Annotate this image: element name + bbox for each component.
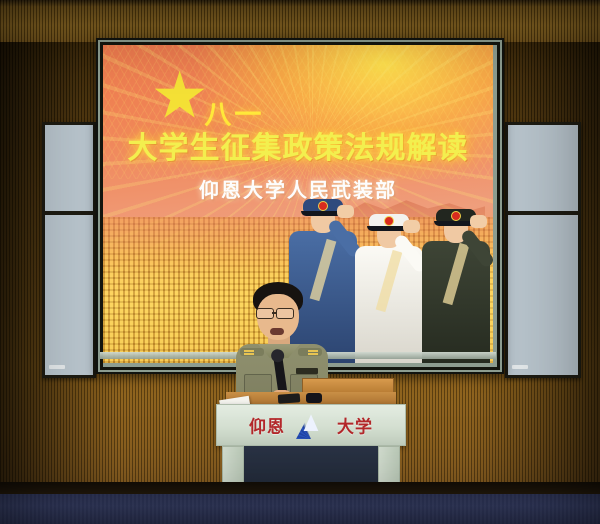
whiteboard-left — [42, 122, 96, 378]
university-fan-logo-icon — [296, 411, 326, 439]
speaker-mouth — [270, 328, 284, 335]
speaker-shoulder-board-right — [298, 348, 322, 356]
speaker-shoulder-board-left — [240, 348, 264, 356]
podium-text-left: 仰恩 — [249, 413, 285, 438]
soldier-cap-badge — [384, 216, 394, 226]
five-pointed-star-icon — [154, 70, 206, 122]
soldier-army — [413, 195, 493, 363]
podium-device — [306, 393, 322, 403]
podium-front-panel: 仰恩 大学 — [216, 404, 406, 446]
speaker-name-badge — [296, 368, 318, 374]
whiteboard-right-divider — [508, 211, 578, 215]
upper-wall-panel — [0, 0, 600, 42]
whiteboard-left-divider — [45, 211, 93, 215]
podium-text-right: 大学 — [337, 413, 373, 438]
whiteboard-right-tray — [512, 365, 528, 369]
glasses-icon — [256, 308, 274, 319]
soldier-cap-badge — [318, 201, 328, 211]
lecture-hall-scene: 八一 大学生征集政策法规解读 仰恩大学人民武装部 — [0, 0, 600, 524]
carpet-floor — [0, 494, 600, 524]
whiteboard-right — [505, 122, 581, 378]
slide-title: 大学生征集政策法规解读 — [103, 123, 493, 167]
soldier-saluting-hand — [470, 215, 487, 228]
glasses-icon — [276, 308, 294, 319]
glasses-bridge — [272, 312, 277, 314]
soldier-cap-badge — [451, 211, 461, 221]
whiteboard-left-tray — [49, 365, 65, 369]
podium-remote-device — [278, 393, 301, 404]
